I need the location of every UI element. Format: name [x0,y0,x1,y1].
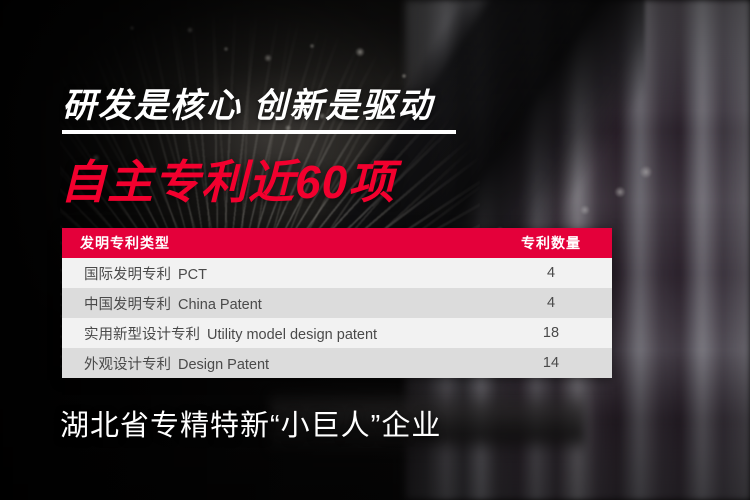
cell-patent-count: 18 [490,318,612,348]
table-row: 中国发明专利China Patent 4 [62,288,612,318]
table-row: 外观设计专利Design Patent 14 [62,348,612,378]
patent-type-en: PCT [178,267,207,283]
cell-patent-type: 外观设计专利Design Patent [62,348,490,378]
column-header-type: 发明专利类型 [62,228,490,258]
table-header-row: 发明专利类型 专利数量 [62,228,612,258]
poster-content: 研发是核心 创新是驱动 自主专利近60项 发明专利类型 专利数量 国际发明专利P… [0,0,750,500]
cell-patent-count: 14 [490,348,612,378]
patent-type-en: Design Patent [178,357,269,373]
table-header: 发明专利类型 专利数量 [62,228,612,258]
patent-type-en: China Patent [178,297,262,313]
column-header-count: 专利数量 [490,228,612,258]
cell-patent-count: 4 [490,258,612,288]
subheadline-text: 自主专利近60项 [60,146,395,212]
cell-patent-count: 4 [490,288,612,318]
headline-divider [62,130,456,134]
cell-patent-type: 实用新型设计专利Utility model design patent [62,318,490,348]
headline-text: 研发是核心 创新是驱动 [62,78,433,127]
cell-patent-type: 国际发明专利PCT [62,258,490,288]
patent-type-en: Utility model design patent [207,327,377,343]
patent-type-cn: 中国发明专利 [84,297,171,313]
patent-type-cn: 外观设计专利 [84,357,171,373]
cell-patent-type: 中国发明专利China Patent [62,288,490,318]
table-row: 国际发明专利PCT 4 [62,258,612,288]
patent-table: 发明专利类型 专利数量 国际发明专利PCT 4 中国发明专利China Pate… [62,228,612,378]
patent-poster: 研发是核心 创新是驱动 自主专利近60项 发明专利类型 专利数量 国际发明专利P… [0,0,750,500]
table-body: 国际发明专利PCT 4 中国发明专利China Patent 4 实用新型设计专… [62,258,612,378]
table-row: 实用新型设计专利Utility model design patent 18 [62,318,612,348]
patent-type-cn: 国际发明专利 [84,267,171,283]
footer-text: 湖北省专精特新“小巨人”企业 [60,402,441,444]
patent-type-cn: 实用新型设计专利 [84,327,200,343]
